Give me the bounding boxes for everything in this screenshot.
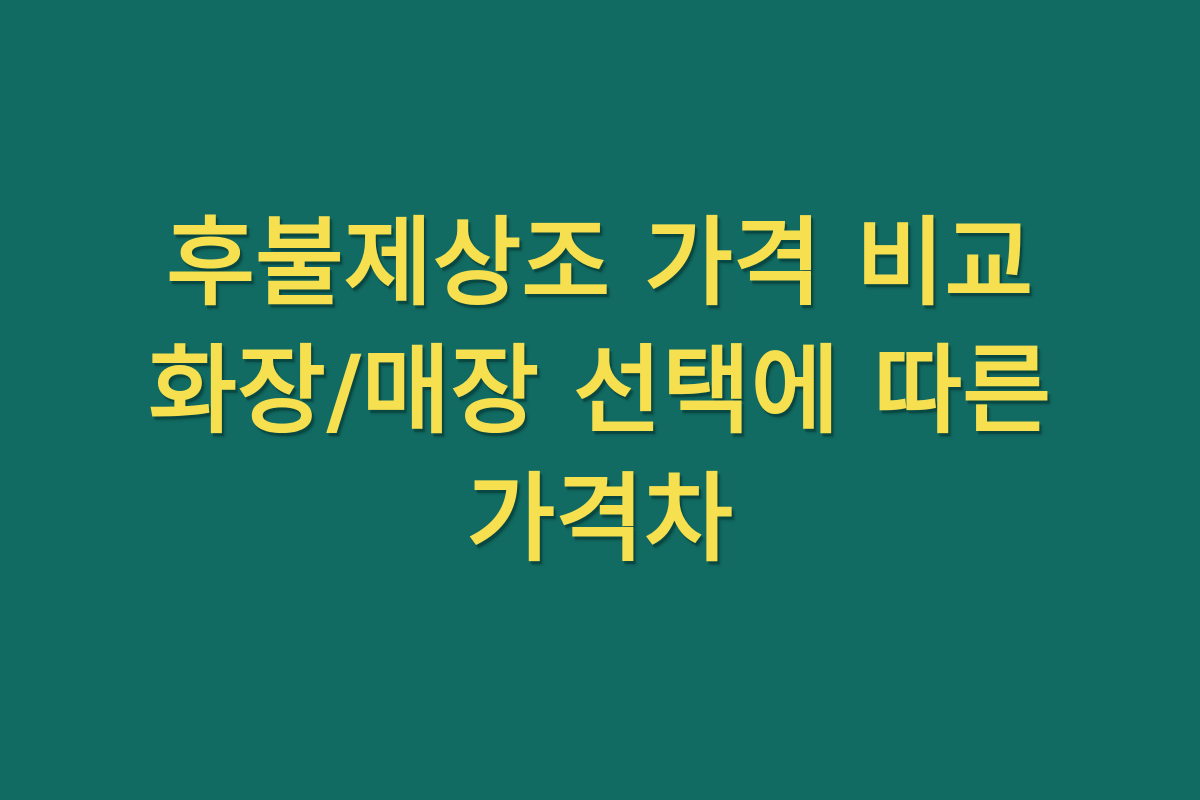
headline-line-2: 화장/매장 선택에 따른	[40, 328, 1160, 456]
headline-line-1: 후불제상조 가격 비교	[40, 200, 1160, 328]
banner-canvas: 후불제상조 가격 비교 화장/매장 선택에 따른 가격차	[0, 0, 1200, 800]
headline-line-3: 가격차	[40, 456, 1160, 584]
headline-block: 후불제상조 가격 비교 화장/매장 선택에 따른 가격차	[40, 200, 1160, 583]
